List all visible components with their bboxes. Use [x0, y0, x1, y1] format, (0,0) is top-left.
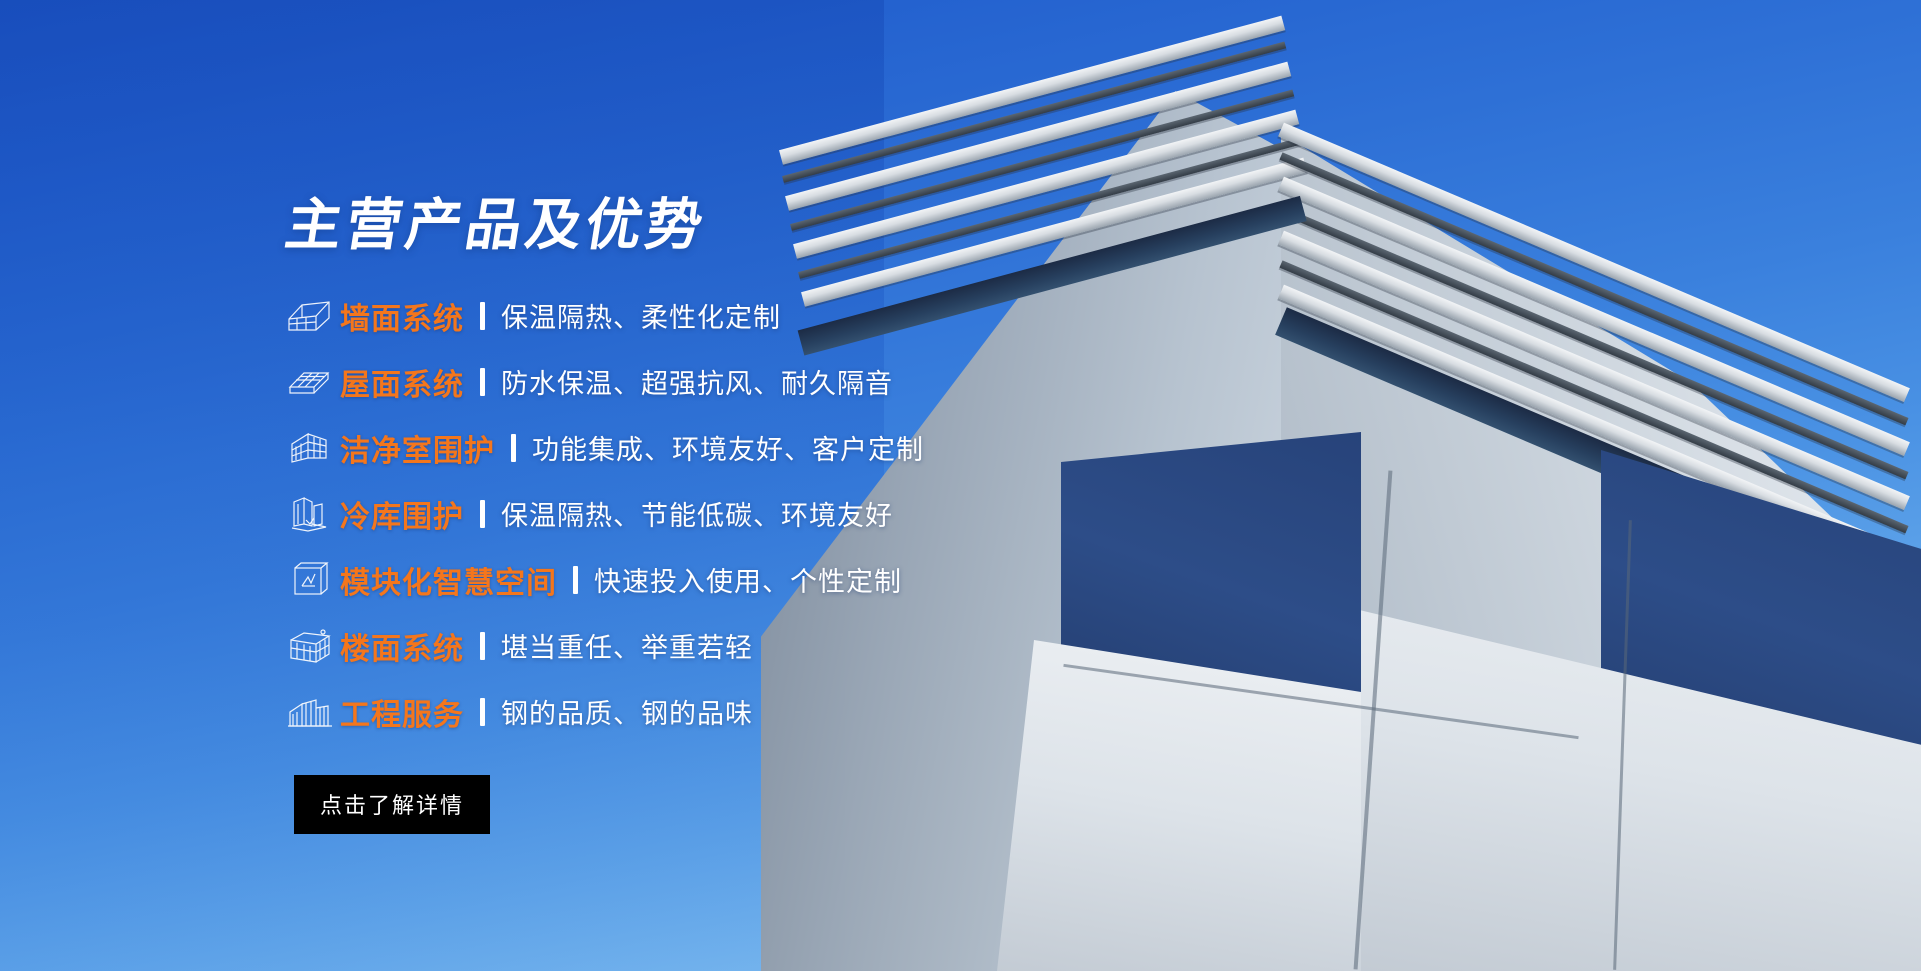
banner-content: 主营产品及优势 墙面系统 保温隔热、柔性化定制: [286, 196, 1186, 834]
learn-more-button[interactable]: 点击了解详情: [294, 775, 490, 834]
product-desc: 快速投入使用、个性定制: [594, 560, 902, 599]
product-desc: 堪当重任、举重若轻: [501, 626, 753, 665]
roof-panel-icon: [286, 360, 340, 404]
product-list: 墙面系统 保温隔热、柔性化定制 屋面系统 防水保温、超强抗风、耐久隔音: [286, 283, 1186, 745]
list-item[interactable]: 模块化智慧空间 快速投入使用、个性定制: [286, 547, 1186, 613]
list-item[interactable]: 楼面系统 堪当重任、举重若轻: [286, 613, 1186, 679]
list-item[interactable]: 洁净室围护 功能集成、环境友好、客户定制: [286, 415, 1186, 481]
product-name: 冷库围护: [340, 492, 464, 536]
separator-bar: [480, 698, 485, 726]
wall-panel-icon: [286, 294, 340, 338]
separator-bar: [480, 368, 485, 396]
separator-bar: [480, 632, 485, 660]
separator-bar: [573, 566, 578, 594]
separator-bar: [511, 434, 516, 462]
list-item[interactable]: 冷库围护 保温隔热、节能低碳、环境友好: [286, 481, 1186, 547]
product-name: 屋面系统: [340, 360, 464, 404]
product-desc: 保温隔热、节能低碳、环境友好: [501, 494, 893, 533]
product-name: 墙面系统: [340, 294, 464, 338]
list-item[interactable]: 屋面系统 防水保温、超强抗风、耐久隔音: [286, 349, 1186, 415]
product-desc: 保温隔热、柔性化定制: [501, 296, 781, 335]
floor-system-icon: [286, 624, 340, 668]
product-name: 工程服务: [340, 690, 464, 734]
separator-bar: [480, 302, 485, 330]
list-item[interactable]: 工程服务 钢的品质、钢的品味: [286, 679, 1186, 745]
product-desc: 钢的品质、钢的品味: [501, 692, 753, 731]
list-item[interactable]: 墙面系统 保温隔热、柔性化定制: [286, 283, 1186, 349]
product-name: 洁净室围护: [340, 426, 495, 470]
product-desc: 功能集成、环境友好、客户定制: [532, 428, 924, 467]
separator-bar: [480, 500, 485, 528]
cold-storage-icon: [286, 492, 340, 536]
product-desc: 防水保温、超强抗风、耐久隔音: [501, 362, 893, 401]
page-title: 主营产品及优势: [281, 196, 1190, 255]
modular-space-icon: [286, 558, 340, 602]
cleanroom-icon: [286, 426, 340, 470]
engineering-service-icon: [286, 690, 340, 734]
product-name: 楼面系统: [340, 624, 464, 668]
product-name: 模块化智慧空间: [340, 558, 557, 602]
